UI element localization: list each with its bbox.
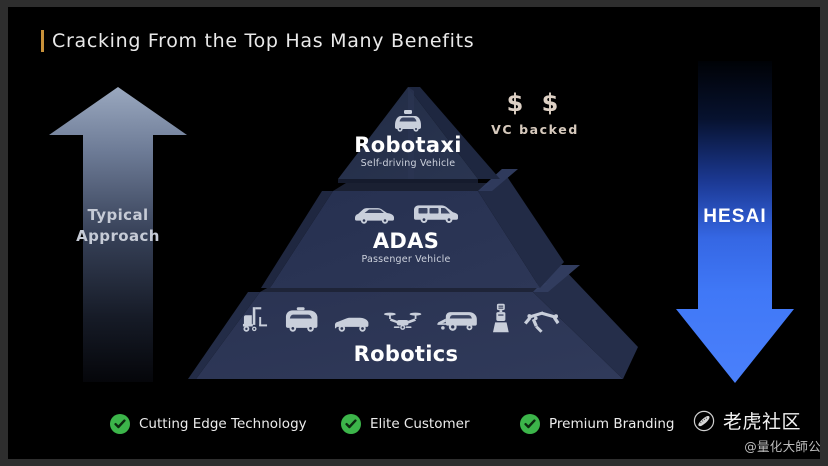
title-accent-bar <box>41 30 44 52</box>
vc-backed-block: $ $ VC backed <box>470 89 600 137</box>
watermark-name: 老虎社区 <box>723 407 801 434</box>
benefit-label: Cutting Edge Technology <box>139 416 307 432</box>
dollar-signs-icon: $ $ <box>470 89 600 117</box>
check-circle-icon <box>110 414 130 434</box>
typical-approach-arrow: Typical Approach <box>49 87 187 382</box>
benefit-item: Premium Branding <box>520 412 674 436</box>
benefit-item: Cutting Edge Technology <box>110 412 307 436</box>
watermark-row: 老虎社区 <box>693 407 820 434</box>
slide-frame: Cracking From the Top Has Many Benefits … <box>0 0 828 466</box>
page-title: Cracking From the Top Has Many Benefits <box>52 30 474 52</box>
watermark-handle: @量化大師公 <box>693 436 820 455</box>
page-title-row: Cracking From the Top Has Many Benefits <box>41 27 474 55</box>
tiger-logo-icon <box>693 410 715 432</box>
vc-backed-label: VC backed <box>470 122 600 137</box>
check-circle-icon <box>520 414 540 434</box>
hesai-label: HESAI <box>676 206 794 228</box>
benefit-item: Elite Customer <box>341 412 470 436</box>
hesai-arrow: HESAI <box>676 61 794 383</box>
check-circle-icon <box>341 414 361 434</box>
benefit-label: Premium Branding <box>549 416 674 432</box>
slide-canvas: Cracking From the Top Has Many Benefits … <box>8 7 820 459</box>
typical-approach-label: Typical Approach <box>49 205 187 247</box>
watermark: 老虎社区 @量化大師公 <box>693 407 820 457</box>
benefit-label: Elite Customer <box>370 416 470 432</box>
